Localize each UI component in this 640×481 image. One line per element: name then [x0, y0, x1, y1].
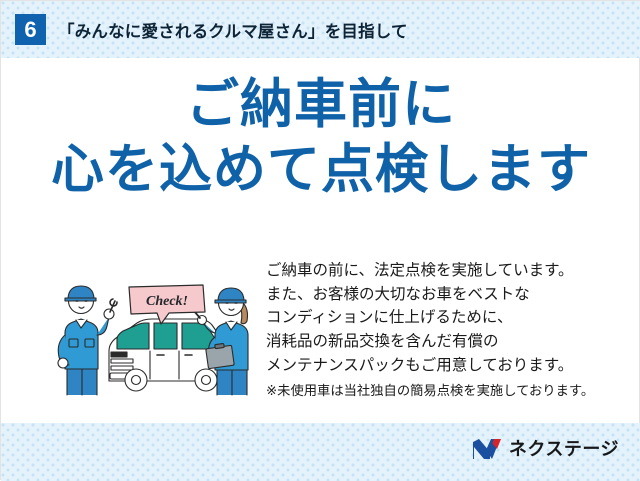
body-line-3: コンディションに仕上げるために、	[266, 306, 626, 330]
check-bubble-label: Check!	[146, 294, 188, 309]
body-note: ※未使用車は当社独自の簡易点検を実施しております。	[266, 381, 626, 401]
promo-banner: 6 「みんなに愛されるクルマ屋さん」を目指して ご納車前に 心を込めて点検します	[0, 0, 640, 480]
brand-logo-text: ネクステージ	[509, 440, 619, 458]
van-shape	[109, 319, 223, 391]
body-line-4: 消耗品の新品交換を含んだ有償の	[266, 330, 626, 354]
mechanic-left	[58, 286, 117, 395]
headline-line-2: 心を込めて点検します	[1, 140, 640, 199]
headline: ご納車前に 心を込めて点検します	[1, 75, 640, 200]
brand-logo: ネクステージ	[472, 438, 619, 460]
nexstage-n-mark	[472, 438, 502, 460]
header-title: 「みんなに愛されるクルマ屋さん」を目指して	[58, 18, 408, 42]
mechanics-illustration: Check!	[57, 273, 262, 398]
body-line-5: メンテナンスパックもご用意しております。	[266, 354, 626, 378]
body-line-2: また、お客様の大切なお車をベストな	[266, 283, 626, 307]
body-line-1: ご納車の前に、法定点検を実施しています。	[266, 259, 626, 283]
header: 6 「みんなに愛されるクルマ屋さん」を目指して	[1, 1, 640, 58]
headline-line-1: ご納車前に	[1, 75, 640, 134]
body-copy: ご納車の前に、法定点検を実施しています。 また、お客様の大切なお車をベストな コ…	[266, 259, 626, 401]
section-number-badge: 6	[15, 14, 46, 45]
